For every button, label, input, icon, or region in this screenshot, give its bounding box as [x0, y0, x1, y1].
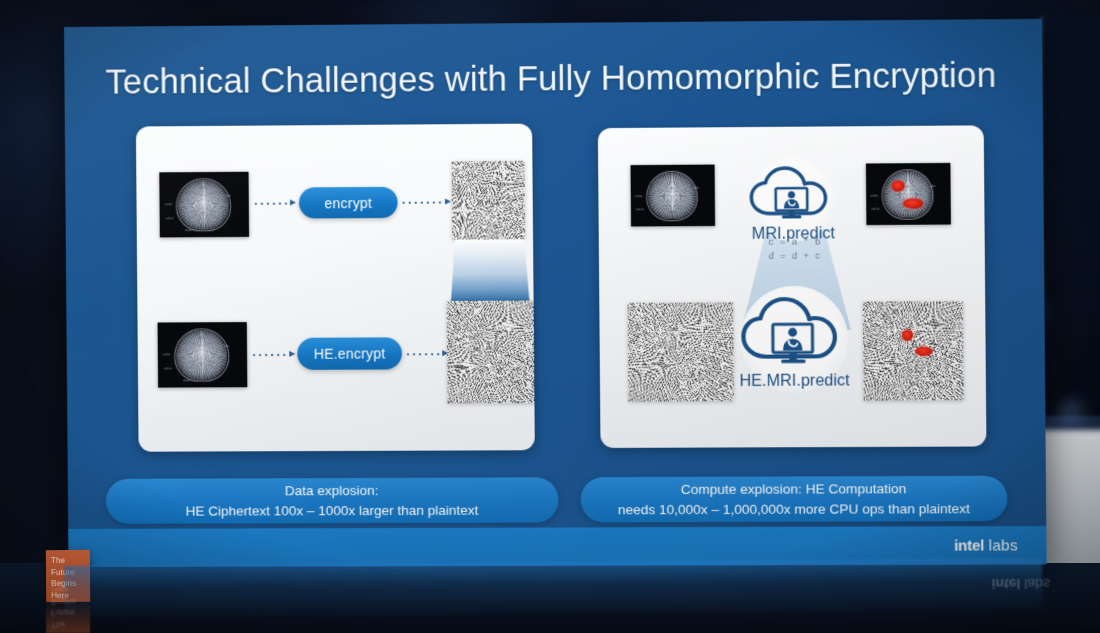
screenshot-stage: Technical Challenges with Fully Homomorp…: [0, 0, 1100, 633]
encrypt-pill[interactable]: encrypt: [299, 187, 398, 219]
encrypt-pill-label: encrypt: [324, 194, 372, 210]
labs-wordmark-reflection: labs: [1024, 576, 1050, 592]
arrow-encrypt-out: [403, 202, 446, 204]
code-snippet: c = a * b d = d + c: [718, 235, 871, 264]
presentation-slide: Technical Challenges with Fully Homomorp…: [64, 19, 1047, 567]
page-title: Technical Challenges with Fully Homomorp…: [105, 56, 1015, 102]
mri-annotation-label: lobe: [226, 195, 231, 198]
mri-plaintext-image: lobe cortex sulcus: [631, 165, 716, 227]
mri-annotation-label: lobe: [930, 185, 935, 188]
intel-wordmark: intel: [954, 537, 984, 554]
code-line-2: d = d + c: [718, 249, 870, 264]
arrowhead-icon: [290, 199, 296, 205]
mri-annotation-label: matter: [185, 229, 193, 232]
intel-wordmark-reflection: intel: [992, 576, 1021, 592]
mri-annotation-label: cortex: [635, 195, 643, 198]
cloud-computer-icon: [729, 292, 860, 377]
badge-reflection: The Future Begins Here: [46, 602, 90, 633]
lesion-marker: [902, 330, 913, 341]
ciphertext-prediction-block: [863, 301, 964, 400]
mri-plaintext-image: lobe cortex sulcus matter: [158, 322, 248, 388]
mri-annotation-label: sulcus: [164, 368, 172, 371]
lesion-marker: [915, 347, 932, 356]
ciphertext-block: [628, 302, 734, 401]
badge-reflect-line-1: The: [51, 618, 90, 630]
intel-labs-logo: intel labs: [954, 537, 1018, 554]
slide-reflection: [64, 558, 1042, 618]
badge-reflect-line-3: Begins: [51, 595, 90, 607]
data-explosion-caption: Data explosion: HE Ciphertext 100x – 100…: [106, 477, 559, 524]
badge-reflect-line-4: Here: [51, 583, 90, 595]
mri-prediction-image: lobe cortex sulcus: [866, 163, 951, 225]
badge-reflect-line-2: Future: [51, 607, 90, 619]
mri-annotation-label: sulcus: [636, 208, 644, 211]
right-panel-card: lobe cortex sulcus lobe cortex sulcus: [598, 125, 987, 448]
arrowhead-icon: [445, 198, 451, 204]
he-mri-predict-node[interactable]: HE.MRI.predict: [729, 286, 860, 400]
code-line-1: c = a * b: [718, 235, 870, 250]
intel-labs-logo-reflection: intel labs: [992, 576, 1050, 592]
mri-annotation-label: matter: [183, 379, 191, 382]
arrow-he-encrypt-in: [253, 354, 290, 356]
arrowhead-icon: [289, 351, 295, 357]
mri-annotation-label: cortex: [163, 353, 171, 356]
arrow-he-encrypt-out: [407, 353, 443, 355]
left-panel-card: lobe cortex sulcus matter encrypt lobe: [136, 124, 535, 452]
arrow-encrypt-in: [255, 203, 291, 205]
caption-line-1: Data explosion:: [285, 481, 379, 501]
cloud-computer-icon: [740, 163, 846, 230]
mri-plaintext-image: lobe cortex sulcus matter: [159, 172, 249, 238]
caption-line-2: needs 10,000x – 1,000,000x more CPU ops …: [618, 499, 970, 520]
mri-annotation-label: sulcus: [166, 217, 174, 220]
ciphertext-small-block: [452, 161, 525, 240]
caption-line-1: Compute explosion: HE Computation: [681, 479, 907, 499]
ciphertext-expansion-shape: [450, 239, 529, 303]
ciphertext-large-block: [447, 300, 535, 403]
labs-wordmark: labs: [989, 537, 1018, 554]
mri-annotation-label: cortex: [870, 195, 878, 198]
mri-annotation-label: sulcus: [871, 208, 879, 211]
caption-line-2: HE Ciphertext 100x – 1000x larger than p…: [186, 500, 479, 521]
mri-annotation-label: cortex: [165, 203, 173, 206]
code-ellipsis-bottom: …: [718, 265, 870, 274]
he-encrypt-pill[interactable]: HE.encrypt: [297, 337, 402, 370]
bokeh-light: [1056, 398, 1090, 432]
he-encrypt-pill-label: HE.encrypt: [314, 345, 386, 361]
he-mri-predict-label: HE.MRI.predict: [739, 372, 849, 391]
mri-annotation-label: lobe: [693, 187, 698, 190]
background-display-panel: [1040, 16, 1100, 416]
compute-explosion-caption: Compute explosion: HE Computation needs …: [581, 476, 1008, 523]
mri-annotation-label: lobe: [224, 345, 229, 348]
